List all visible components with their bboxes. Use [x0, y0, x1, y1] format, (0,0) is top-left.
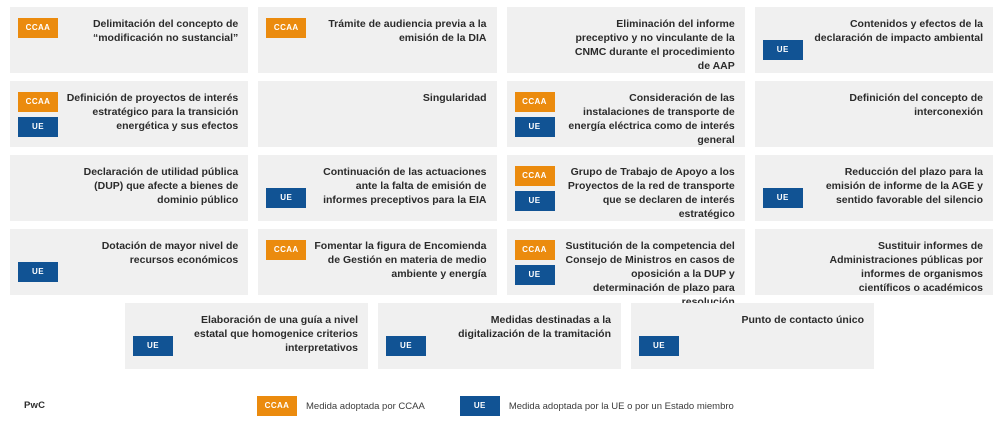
measure-card-text: Consideración de las instalaciones de tr… [561, 90, 737, 147]
badge-ue: UE [133, 336, 173, 356]
legend-label-ue: Medida adoptada por la UE o por un Estad… [509, 401, 734, 412]
badge-ue: UE [639, 336, 679, 356]
badge-ccaa: CCAA [515, 92, 555, 112]
measure-card-text: Trámite de audiencia previa a la emisión… [312, 16, 488, 45]
measure-badges: UE [763, 164, 809, 208]
measure-card[interactable]: UEReducción del plazo para la emisión de… [755, 155, 993, 221]
measure-card-text: Grupo de Trabajo de Apoyo a los Proyecto… [561, 164, 737, 221]
measure-card[interactable]: CCAAUEDefinición de proyectos de interés… [10, 81, 248, 147]
measure-card-text: Reducción del plazo para la emisión de i… [809, 164, 985, 207]
badge-ccaa: CCAA [515, 166, 555, 186]
measure-badges: CCAAUE [515, 164, 561, 211]
measure-card[interactable]: CCAADelimitación del concepto de “modifi… [10, 7, 248, 73]
measure-card-text: Definición del concepto de interconexión [809, 90, 985, 119]
measure-card[interactable]: CCAAUEConsideración de las instalaciones… [507, 81, 745, 147]
measure-card[interactable]: CCAAUEGrupo de Trabajo de Apoyo a los Pr… [507, 155, 745, 221]
measure-card[interactable]: CCAAFomentar la figura de Encomienda de … [258, 229, 496, 295]
measure-card[interactable]: CCAAEliminación del informe preceptivo y… [507, 7, 745, 73]
legend-badge-ue: UE [460, 396, 500, 416]
badge-ue: UE [515, 117, 555, 137]
pwc-logo: PwC [24, 400, 45, 411]
measure-badges: CCAAUE [515, 238, 561, 285]
measure-card-text: Elaboración de una guía a nivel estatal … [179, 312, 360, 355]
measure-card[interactable]: UEContinuación de las actuaciones ante l… [258, 155, 496, 221]
badge-ue: UE [18, 262, 58, 282]
measure-card[interactable]: CCAAUESustitución de la competencia del … [507, 229, 745, 295]
badge-ccaa: CCAA [18, 18, 58, 38]
measure-badges: UE [763, 16, 809, 60]
badge-ccaa: CCAA [266, 240, 306, 260]
measure-card[interactable]: CCAADefinición del concepto de intercone… [755, 81, 993, 147]
measures-row: UEDotación de mayor nivel de recursos ec… [10, 229, 993, 295]
legend-item-ue: UEMedida adoptada por la UE o por un Est… [460, 396, 734, 416]
measures-row: CCAADeclaración de utilidad pública (DUP… [10, 155, 993, 221]
measure-badges: CCAAUE [515, 90, 561, 137]
badge-ccaa: CCAA [515, 240, 555, 260]
badge-ue: UE [763, 40, 803, 60]
badge-ue: UE [515, 191, 555, 211]
measure-badges: UE [386, 312, 432, 356]
badge-ue: UE [515, 265, 555, 285]
legend-label-ccaa: Medida adoptada por CCAA [306, 401, 425, 412]
measures-row: CCAADelimitación del concepto de “modifi… [10, 7, 993, 73]
measure-badges: CCAA [266, 238, 312, 260]
measure-card[interactable]: UEMedidas destinadas a la digitalización… [378, 303, 621, 369]
badge-ccaa: CCAA [266, 18, 306, 38]
badge-ue: UE [18, 117, 58, 137]
measure-badges: UE [133, 312, 179, 356]
badge-ue: UE [386, 336, 426, 356]
measure-card[interactable]: UEContenidos y efectos de la declaración… [755, 7, 993, 73]
measures-row: CCAAUEDefinición de proyectos de interés… [10, 81, 993, 147]
measure-card-text: Dotación de mayor nivel de recursos econ… [64, 238, 240, 267]
measure-badges: CCAA [266, 16, 312, 38]
measure-card-text: Delimitación del concepto de “modificaci… [64, 16, 240, 45]
measure-card-text: Declaración de utilidad pública (DUP) qu… [64, 164, 240, 207]
measure-card-text: Continuación de las actuaciones ante la … [312, 164, 488, 207]
measures-grid: CCAADelimitación del concepto de “modifi… [10, 7, 993, 369]
measure-card[interactable]: CCAADeclaración de utilidad pública (DUP… [10, 155, 248, 221]
measures-row: UEElaboración de una guía a nivel estata… [10, 303, 993, 369]
badge-ue: UE [266, 188, 306, 208]
measure-card-text: Eliminación del informe preceptivo y no … [561, 16, 737, 73]
measure-badges: UE [18, 238, 64, 282]
measure-card[interactable]: CCAATrámite de audiencia previa a la emi… [258, 7, 496, 73]
measure-card-text: Contenidos y efectos de la declaración d… [809, 16, 985, 45]
measure-badges: UE [266, 164, 312, 208]
legend-item-ccaa: CCAAMedida adoptada por CCAA [257, 396, 425, 416]
measure-card[interactable]: UEPunto de contacto único [631, 303, 874, 369]
measure-card[interactable]: UEDotación de mayor nivel de recursos ec… [10, 229, 248, 295]
measure-card[interactable]: CCAASustituir informes de Administracion… [755, 229, 993, 295]
measure-card-text: Singularidad [312, 90, 488, 105]
measure-card[interactable]: UEElaboración de una guía a nivel estata… [125, 303, 368, 369]
measure-card-text: Fomentar la figura de Encomienda de Gest… [312, 238, 488, 281]
measure-card-text: Medidas destinadas a la digitalización d… [432, 312, 613, 341]
measure-badges: UE [639, 312, 685, 356]
measure-card-text: Punto de contacto único [685, 312, 866, 327]
badge-ue: UE [763, 188, 803, 208]
legend: CCAAMedida adoptada por CCAAUEMedida ado… [257, 396, 734, 416]
measure-badges: CCAAUE [18, 90, 64, 137]
legend-badge-ccaa: CCAA [257, 396, 297, 416]
measure-badges: CCAA [18, 16, 64, 38]
measure-card-text: Sustitución de la competencia del Consej… [561, 238, 737, 309]
measure-card-text: Sustituir informes de Administraciones p… [809, 238, 985, 295]
badge-ccaa: CCAA [18, 92, 58, 112]
measure-card[interactable]: CCAASingularidad [258, 81, 496, 147]
measure-card-text: Definición de proyectos de interés estra… [64, 90, 240, 133]
